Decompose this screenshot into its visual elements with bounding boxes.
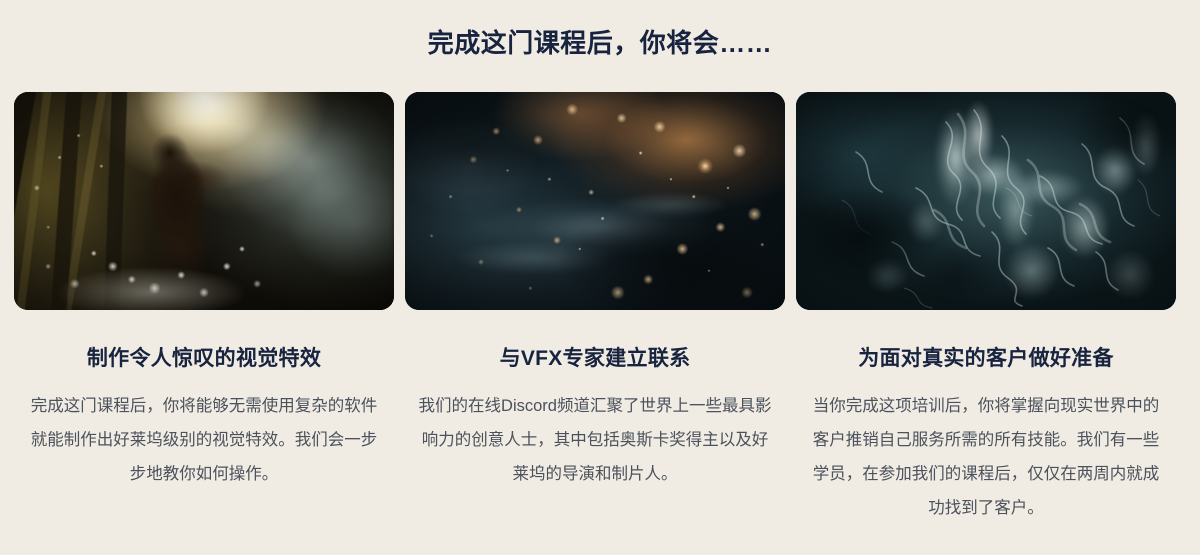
card-thumbnail-image: [796, 92, 1176, 310]
card-heading: 为面对真实的客户做好准备: [858, 346, 1114, 372]
card-body-text: 我们的在线Discord频道汇聚了世界上一些最具影响力的创意人士，其中包括奥斯卡…: [414, 390, 776, 491]
image-vignette: [796, 92, 1176, 310]
card-heading: 与VFX专家建立联系: [500, 346, 691, 372]
benefit-card-grid: 制作令人惊叹的视觉特效 完成这门课程后，你将能够无需使用复杂的软件就能制作出好莱…: [14, 92, 1186, 526]
image-vignette: [14, 92, 394, 310]
card-heading: 制作令人惊叹的视觉特效: [87, 346, 321, 372]
benefit-card: 制作令人惊叹的视觉特效 完成这门课程后，你将能够无需使用复杂的软件就能制作出好莱…: [14, 92, 394, 492]
card-thumbnail-image: [405, 92, 785, 310]
image-vignette: [405, 92, 785, 310]
card-thumbnail-image: [14, 92, 394, 310]
section-title: 完成这门课程后，你将会……: [0, 28, 1200, 59]
card-body-text: 当你完成这项培训后，你将掌握向现实世界中的客户推销自己服务所需的所有技能。我们有…: [805, 390, 1167, 525]
benefit-card: 与VFX专家建立联系 我们的在线Discord频道汇聚了世界上一些最具影响力的创…: [405, 92, 785, 492]
benefit-card: 为面对真实的客户做好准备 当你完成这项培训后，你将掌握向现实世界中的客户推销自己…: [796, 92, 1176, 526]
card-body-text: 完成这门课程后，你将能够无需使用复杂的软件就能制作出好莱坞级别的视觉特效。我们会…: [23, 390, 385, 491]
benefits-section: 完成这门课程后，你将会…… 制作令人惊叹的视觉特效 完成这门课程后，你将能够无需…: [0, 0, 1200, 555]
